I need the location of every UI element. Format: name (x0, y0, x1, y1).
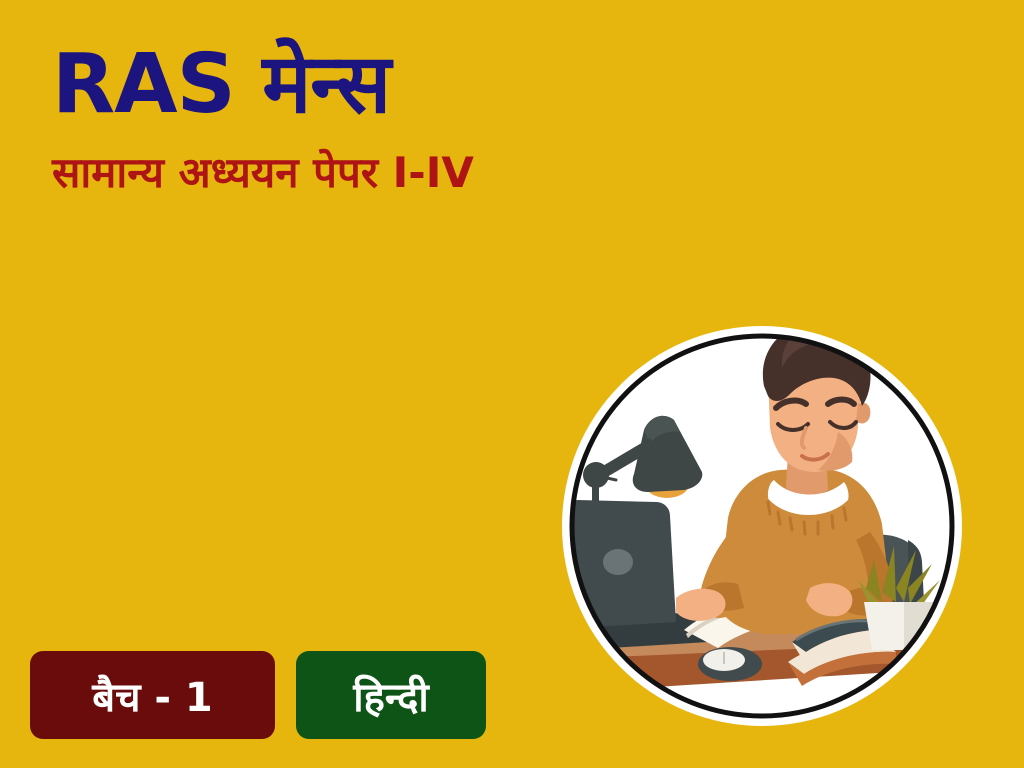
illustration-frame (552, 312, 972, 732)
title-block: RAS मेन्स सामान्य अध्ययन पेपर I-IV (52, 42, 752, 196)
poster-canvas: RAS मेन्स सामान्य अध्ययन पेपर I-IV बैच -… (0, 0, 1024, 768)
page-title: RAS मेन्स (52, 42, 752, 128)
page-subtitle: सामान्य अध्ययन पेपर I-IV (52, 150, 752, 196)
badge-row: बैच - 1 हिन्दी (30, 651, 486, 739)
computer-mouse-icon (698, 647, 762, 681)
status-badge-language[interactable]: हिन्दी (296, 651, 486, 739)
status-badge-batch[interactable]: बैच - 1 (30, 651, 275, 739)
